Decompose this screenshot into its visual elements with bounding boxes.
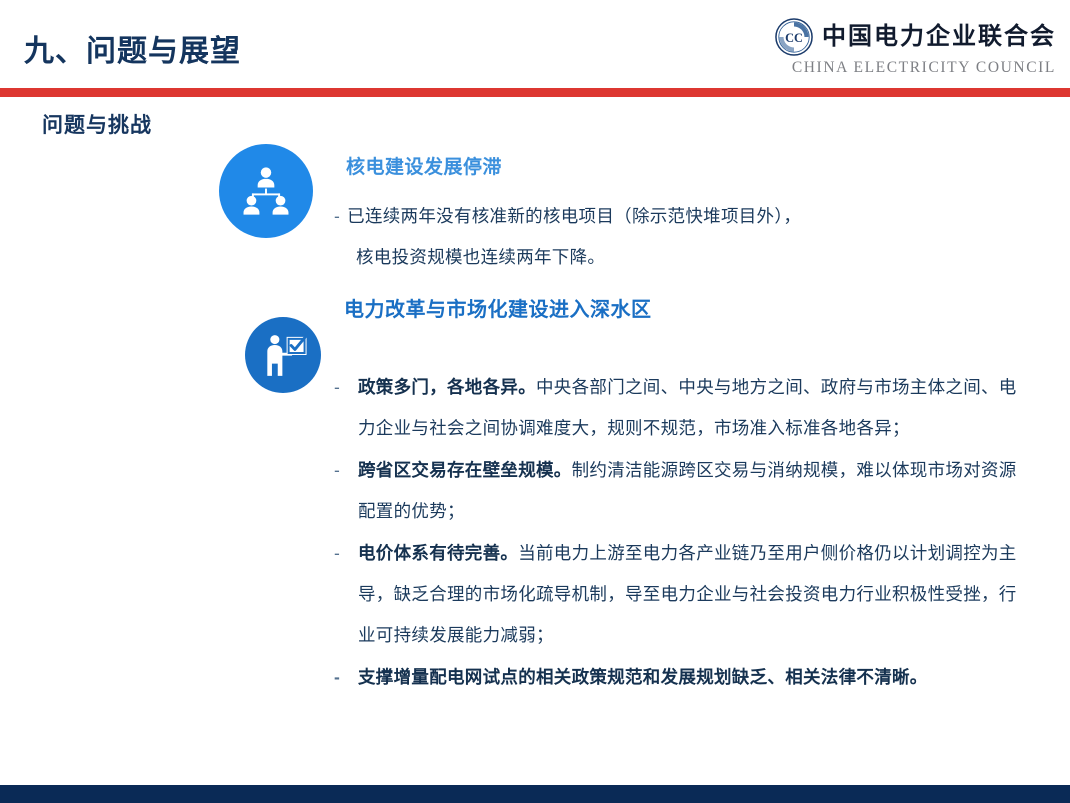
page-title: 九、问题与展望	[24, 26, 241, 70]
red-divider	[0, 88, 1070, 97]
list-item: -电价体系有待完善。当前电力上游至电力各产业链乃至用户侧价格仍以计划调控为主导，…	[334, 533, 1024, 656]
organization-logo: CC 中国电力企业联合会 CHINA ELECTRICITY COUNCIL	[775, 18, 1056, 77]
dash-bullet: -	[334, 450, 340, 491]
dash-bullet: -	[334, 206, 347, 226]
paragraph-line-2: 核电投资规模也连续两年下降。	[334, 237, 1024, 278]
presenter-checklist-icon	[245, 317, 321, 393]
bullet-lead: 支撑增量配电网试点的相关政策规范和发展规划缺乏、相关法律不清晰。	[358, 667, 928, 687]
bullet-lead: 电价体系有待完善。	[358, 543, 518, 563]
footer-bar	[0, 785, 1070, 803]
slide: 九、问题与展望 CC 中国电力企业联合会 CHINA ELECTRICITY C…	[0, 0, 1070, 803]
list-item: -支撑增量配电网试点的相关政策规范和发展规划缺乏、相关法律不清晰。	[334, 657, 1024, 698]
bullet-lead: 政策多门，各地各异。	[358, 377, 536, 397]
slide-header: 九、问题与展望 CC 中国电力企业联合会 CHINA ELECTRICITY C…	[0, 0, 1070, 88]
section-heading: 问题与挑战	[42, 109, 152, 139]
list-item: -跨省区交易存在壁垒规模。制约清洁能源跨区交易与消纳规模，难以体现市场对资源配置…	[334, 450, 1024, 532]
logo-chinese-name: 中国电力企业联合会	[822, 25, 1056, 49]
bullet-lead: 跨省区交易存在壁垒规模。	[358, 460, 572, 480]
block-title-reform: 电力改革与市场化建设进入深水区	[344, 293, 652, 322]
dash-bullet: -	[334, 533, 340, 574]
paragraph-line-1: 已连续两年没有核准新的核电项目（除示范快堆项目外），	[347, 206, 801, 226]
cec-roundel-icon: CC	[775, 18, 813, 56]
list-item: -政策多门，各地各异。中央各部门之间、中央与地方之间、政府与市场主体之间、电力企…	[334, 367, 1024, 449]
dash-bullet: -	[334, 367, 340, 408]
team-hierarchy-icon	[219, 144, 313, 238]
svg-text:CC: CC	[785, 31, 803, 45]
logo-english-name: CHINA ELECTRICITY COUNCIL	[792, 59, 1056, 77]
block-paragraph-nuclear: -已连续两年没有核准新的核电项目（除示范快堆项目外）， 核电投资规模也连续两年下…	[334, 196, 1024, 278]
dash-bullet: -	[334, 657, 340, 698]
bullet-list-reform: -政策多门，各地各异。中央各部门之间、中央与地方之间、政府与市场主体之间、电力企…	[334, 367, 1024, 699]
block-title-nuclear: 核电建设发展停滞	[346, 152, 502, 179]
